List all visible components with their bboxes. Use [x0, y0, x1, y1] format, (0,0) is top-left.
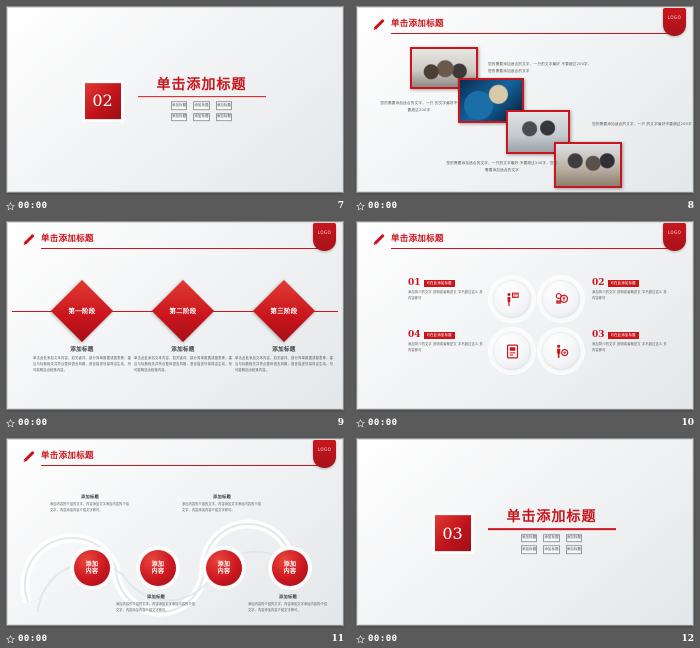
flow-circle-line1: 添加: [86, 561, 99, 569]
page-title: 单击添加标题: [157, 78, 247, 93]
stage-title: 添加标题: [235, 345, 333, 353]
star-icon: [6, 202, 15, 211]
flow-text-1: 添加标题 添加内容的介绍的文字，内容添加文字添加内容的介绍文字，内容添加内容介绍…: [50, 494, 130, 514]
slide-footer: 00:00 11: [0, 630, 350, 648]
stage-title: 添加标题: [33, 345, 131, 353]
slide-cell-10[interactable]: 单击添加标题 LOGO: [350, 215, 700, 432]
page-number: 12: [681, 634, 694, 644]
feature-number: 04: [408, 331, 421, 340]
chip-item[interactable]: 添加标题: [171, 102, 187, 110]
slide-cell-11[interactable]: 单击添加标题 LOGO 添加 内容: [0, 432, 350, 648]
person-gear-icon: [553, 343, 570, 360]
page-number: 8: [688, 201, 694, 211]
section-divider-block: 02 单击添加标题 添加标题 添加标题 添加标题 添加标题 添加标题 添加标题: [8, 78, 342, 122]
slide-header: 单击添加标题: [22, 233, 328, 249]
timer-label: 00:00: [18, 201, 48, 211]
circle-flow-group: 添加 内容 添加 内容 添加 内容 添加 内容 添加标题 添加内容的介绍的文: [8, 472, 342, 620]
stage-label: 第二阶段: [161, 289, 205, 333]
footer-left: 00:00: [356, 634, 398, 644]
stage-text-3: 添加标题 单击此处添加文本内容，如关键词、部分简单数据或图表等，建议与标题相关并…: [235, 345, 333, 373]
flow-text-2: 添加标题 添加内容的介绍的文字，内容添加文字添加内容的介绍文字，内容添加内容介绍…: [182, 494, 262, 514]
page-title: 单击添加标题: [391, 17, 444, 29]
feature-banner: 可在此添加标题: [608, 332, 639, 338]
title-underline: [488, 529, 616, 531]
flow-circle-line2: 内容: [218, 568, 231, 576]
timer-label: 00:00: [368, 634, 398, 644]
slide-header: 单击添加标题: [372, 233, 678, 249]
flow-text-title: 添加标题: [50, 494, 130, 500]
feature-item-3: 03 可在此添加标题 添加简介的文字 说明或者概述文 字不超过这么 多内容即可: [592, 331, 670, 354]
logo-badge: LOGO: [663, 8, 686, 36]
photo-caption: 您的需要添加适合的文字，一只 的文字最好不要超过200字: [380, 100, 458, 114]
slide-header: 单击添加标题: [22, 450, 328, 466]
slide-footer: 00:00 9: [0, 414, 350, 432]
stage-diamond-1[interactable]: 第一阶段: [51, 280, 113, 342]
page-title: 单击添加标题: [391, 232, 444, 244]
section-text-group: 单击添加标题 添加标题 添加标题 添加标题 添加标题 添加标题 添加标题: [138, 78, 266, 122]
feature-body: 添加简介的文字 说明或者概述文 字不超过这么 多内容即可: [592, 290, 670, 302]
slide-thumbnail-grid: 02 单击添加标题 添加标题 添加标题 添加标题 添加标题 添加标题 添加标题: [0, 0, 700, 648]
photo-caption: 您的需要添加适合的文字，一只的文字最好 不要超过200字，您的需要添加适合的文字: [488, 61, 593, 75]
logo-text: LOGO: [668, 230, 681, 235]
section-number-badge: 02: [85, 83, 121, 119]
chip-item[interactable]: 添加标题: [216, 102, 232, 110]
title-underline: [138, 96, 266, 98]
page-title: 单击添加标题: [41, 232, 94, 244]
chip-item[interactable]: 添加标题: [193, 102, 209, 110]
footer-left: 00:00: [6, 418, 48, 428]
flow-circle-line1: 添加: [284, 561, 297, 569]
flow-circle-2[interactable]: 添加 内容: [140, 550, 176, 586]
chip-item[interactable]: 添加标题: [216, 113, 232, 121]
pen-icon: [22, 450, 36, 464]
photo-office-group[interactable]: [554, 142, 622, 188]
chip-item[interactable]: 添加标题: [171, 113, 187, 121]
footer-left: 00:00: [6, 201, 48, 211]
section-text-group: 单击添加标题 添加标题 添加标题 添加标题 添加标题 添加标题 添加标题: [488, 510, 616, 554]
slide-7[interactable]: 02 单击添加标题 添加标题 添加标题 添加标题 添加标题 添加标题 添加标题: [7, 7, 343, 192]
section-number-badge: 03: [435, 515, 471, 551]
pen-icon: [22, 233, 36, 247]
slide-9[interactable]: 单击添加标题 LOGO 第一阶段 第二阶段 第三阶段 添加标题 单击此处添加文本…: [7, 222, 343, 409]
logo-badge: LOGO: [313, 223, 336, 251]
feature-number: 01: [408, 279, 421, 288]
header-rule: [391, 33, 678, 34]
icon-orb-3[interactable]: [542, 332, 580, 370]
slide-8[interactable]: 单击添加标题 LOGO 您的需要添加适合的文字，一只的文字最好 不要超过200字…: [357, 7, 693, 192]
page-title: 单击添加标题: [507, 510, 597, 525]
feature-item-2: 02 可在此添加标题 添加简介的文字 说明或者概述文 字不超过这么 多内容即可: [592, 279, 670, 302]
feature-number: 03: [592, 331, 605, 340]
page-title: 单击添加标题: [41, 449, 94, 461]
logo-text: LOGO: [318, 230, 331, 235]
page-number: 11: [331, 634, 344, 644]
icon-orb-2[interactable]: [542, 280, 580, 318]
footer-left: 00:00: [356, 201, 398, 211]
stage-label: 第三阶段: [262, 289, 306, 333]
feature-head: 01 可在此添加标题: [408, 279, 486, 288]
page-number: 9: [338, 418, 344, 428]
timer-label: 00:00: [18, 418, 48, 428]
stage-body: 单击此处添加文本内容，如关键词、部分简单数据或图表等，建议与标题相关并符合整体语…: [235, 356, 333, 373]
flow-text-title: 添加标题: [116, 594, 196, 600]
star-icon: [6, 419, 15, 428]
star-icon: [356, 635, 365, 644]
feature-item-4: 04 可在此添加标题 添加简介的文字 说明或者概述文 字不超过这么 多内容即可: [408, 331, 486, 354]
timer-label: 00:00: [368, 201, 398, 211]
slide-11[interactable]: 单击添加标题 LOGO 添加 内容: [7, 439, 343, 625]
chip-item[interactable]: 添加标题: [521, 545, 537, 553]
stage-text-1: 添加标题 单击此处添加文本内容，如关键词、部分简单数据或图表等，建议与标题相关并…: [33, 345, 131, 373]
slide-cell-8[interactable]: 单击添加标题 LOGO 您的需要添加适合的文字，一只的文字最好 不要超过200字…: [350, 0, 700, 215]
flow-circle-4[interactable]: 添加 内容: [272, 550, 308, 586]
logo-badge: LOGO: [663, 223, 686, 251]
star-icon: [356, 202, 365, 211]
chip-grid: 添加标题 添加标题 添加标题 添加标题 添加标题 添加标题: [521, 534, 582, 554]
feature-head: 02 可在此添加标题: [592, 279, 670, 288]
stage-body: 单击此处添加文本内容，如关键词、部分简单数据或图表等，建议与标题相关并符合整体语…: [134, 356, 232, 373]
photo-caption: 您的需要添加适合的文字，一只 的文字最好不要超过200字: [592, 121, 692, 128]
header-rule: [41, 465, 328, 466]
photo-caption: 您的需要添加适合的文字，一只的文字最好 不要超过200字，您的需要添加适合的文字: [446, 160, 558, 174]
star-icon: [6, 635, 15, 644]
slide-footer: 00:00 7: [0, 197, 350, 215]
slide-12[interactable]: 03 单击添加标题 添加标题 添加标题 添加标题 添加标题 添加标题 添加标题: [357, 439, 693, 625]
pen-icon: [372, 18, 386, 32]
document-printer-icon: [504, 343, 521, 360]
flow-text-body: 添加内容的介绍的文字，内容添加文字添加内容的介绍文字，内容添加内容介绍文字即可。: [50, 502, 130, 514]
feature-banner: 可在此添加标题: [424, 280, 455, 286]
flow-circle-line2: 内容: [86, 568, 99, 576]
slide-cell-9[interactable]: 单击添加标题 LOGO 第一阶段 第二阶段 第三阶段 添加标题 单击此处添加文本…: [0, 215, 350, 432]
flow-circle-line1: 添加: [152, 561, 165, 569]
logo-badge: LOGO: [313, 440, 336, 468]
footer-left: 00:00: [6, 634, 48, 644]
flow-text-title: 添加标题: [182, 494, 262, 500]
chip-item[interactable]: 添加标题: [193, 113, 209, 121]
logo-text: LOGO: [668, 15, 681, 20]
icon-circle-group: 01 可在此添加标题 添加简介的文字 说明或者概述文 字不超过这么 多内容即可 …: [358, 257, 692, 404]
star-icon: [356, 419, 365, 428]
feature-banner: 可在此添加标题: [424, 332, 455, 338]
flow-circle-line2: 内容: [152, 568, 165, 576]
chip-item[interactable]: 添加标题: [566, 534, 582, 542]
feature-body: 添加简介的文字 说明或者概述文 字不超过这么 多内容即可: [408, 290, 486, 302]
page-number: 10: [681, 418, 694, 428]
stage-diamond-2[interactable]: 第二阶段: [152, 280, 214, 342]
slide-cell-12[interactable]: 03 单击添加标题 添加标题 添加标题 添加标题 添加标题 添加标题 添加标题: [350, 432, 700, 648]
person-presenting-icon: [504, 291, 521, 308]
feature-banner: 可在此添加标题: [608, 280, 639, 286]
flow-text-title: 添加标题: [248, 594, 328, 600]
flow-circle-3[interactable]: 添加 内容: [206, 550, 242, 586]
chip-grid: 添加标题 添加标题 添加标题 添加标题 添加标题 添加标题: [171, 102, 232, 122]
chip-item[interactable]: 添加标题: [566, 545, 582, 553]
icon-orb-4[interactable]: [493, 332, 531, 370]
flow-text-4: 添加标题 添加内容的介绍的文字，内容添加文字添加内容的介绍文字，内容添加内容介绍…: [248, 594, 328, 614]
feature-body: 添加简介的文字 说明或者概述文 字不超过这么 多内容即可: [408, 342, 486, 354]
feature-number: 02: [592, 279, 605, 288]
header-rule: [41, 248, 328, 249]
page-number: 7: [338, 201, 344, 211]
feature-head: 03 可在此添加标题: [592, 331, 670, 340]
feature-body: 添加简介的文字 说明或者概述文 字不超过这么 多内容即可: [592, 342, 670, 354]
stage-title: 添加标题: [134, 345, 232, 353]
icon-orb-1[interactable]: [493, 280, 531, 318]
chip-item[interactable]: 添加标题: [543, 545, 559, 553]
stage-body: 单击此处添加文本内容，如关键词、部分简单数据或图表等，建议与标题相关并符合整体语…: [33, 356, 131, 373]
timer-label: 00:00: [368, 418, 398, 428]
stage-label: 第一阶段: [60, 289, 104, 333]
flow-circle-line2: 内容: [284, 568, 297, 576]
flow-text-body: 添加内容的介绍的文字，内容添加文字添加内容的介绍文字，内容添加内容介绍文字即可。: [182, 502, 262, 514]
stage-diamond-3[interactable]: 第三阶段: [253, 280, 315, 342]
slide-footer: 00:00 12: [350, 630, 700, 648]
logo-text: LOGO: [318, 447, 331, 452]
section-divider-block: 03 单击添加标题 添加标题 添加标题 添加标题 添加标题 添加标题 添加标题: [358, 510, 692, 554]
slide-header: 单击添加标题: [372, 18, 678, 34]
slide-10[interactable]: 单击添加标题 LOGO: [357, 222, 693, 409]
chip-item[interactable]: 添加标题: [543, 534, 559, 542]
flow-circle-1[interactable]: 添加 内容: [74, 550, 110, 586]
pen-icon: [372, 233, 386, 247]
chip-item[interactable]: 添加标题: [521, 534, 537, 542]
photo-staircase: 您的需要添加适合的文字，一只的文字最好 不要超过200字，您的需要添加适合的文字…: [358, 38, 692, 187]
slide-cell-7[interactable]: 02 单击添加标题 添加标题 添加标题 添加标题 添加标题 添加标题 添加标题: [0, 0, 350, 215]
slide-footer: 00:00 8: [350, 197, 700, 215]
feature-head: 04 可在此添加标题: [408, 331, 486, 340]
money-lock-icon: [553, 291, 570, 308]
stage-text-2: 添加标题 单击此处添加文本内容，如关键词、部分简单数据或图表等，建议与标题相关并…: [134, 345, 232, 373]
flow-text-body: 添加内容的介绍的文字，内容添加文字添加内容的介绍文字，内容添加内容介绍文字即可。: [116, 602, 196, 614]
flow-text-3: 添加标题 添加内容的介绍的文字，内容添加文字添加内容的介绍文字，内容添加内容介绍…: [116, 594, 196, 614]
footer-left: 00:00: [356, 418, 398, 428]
flow-text-body: 添加内容的介绍的文字，内容添加文字添加内容的介绍文字，内容添加内容介绍文字即可。: [248, 602, 328, 614]
flow-circle-line1: 添加: [218, 561, 231, 569]
header-rule: [391, 248, 678, 249]
timer-label: 00:00: [18, 634, 48, 644]
slide-footer: 00:00 10: [350, 414, 700, 432]
feature-item-1: 01 可在此添加标题 添加简介的文字 说明或者概述文 字不超过这么 多内容即可: [408, 279, 486, 302]
